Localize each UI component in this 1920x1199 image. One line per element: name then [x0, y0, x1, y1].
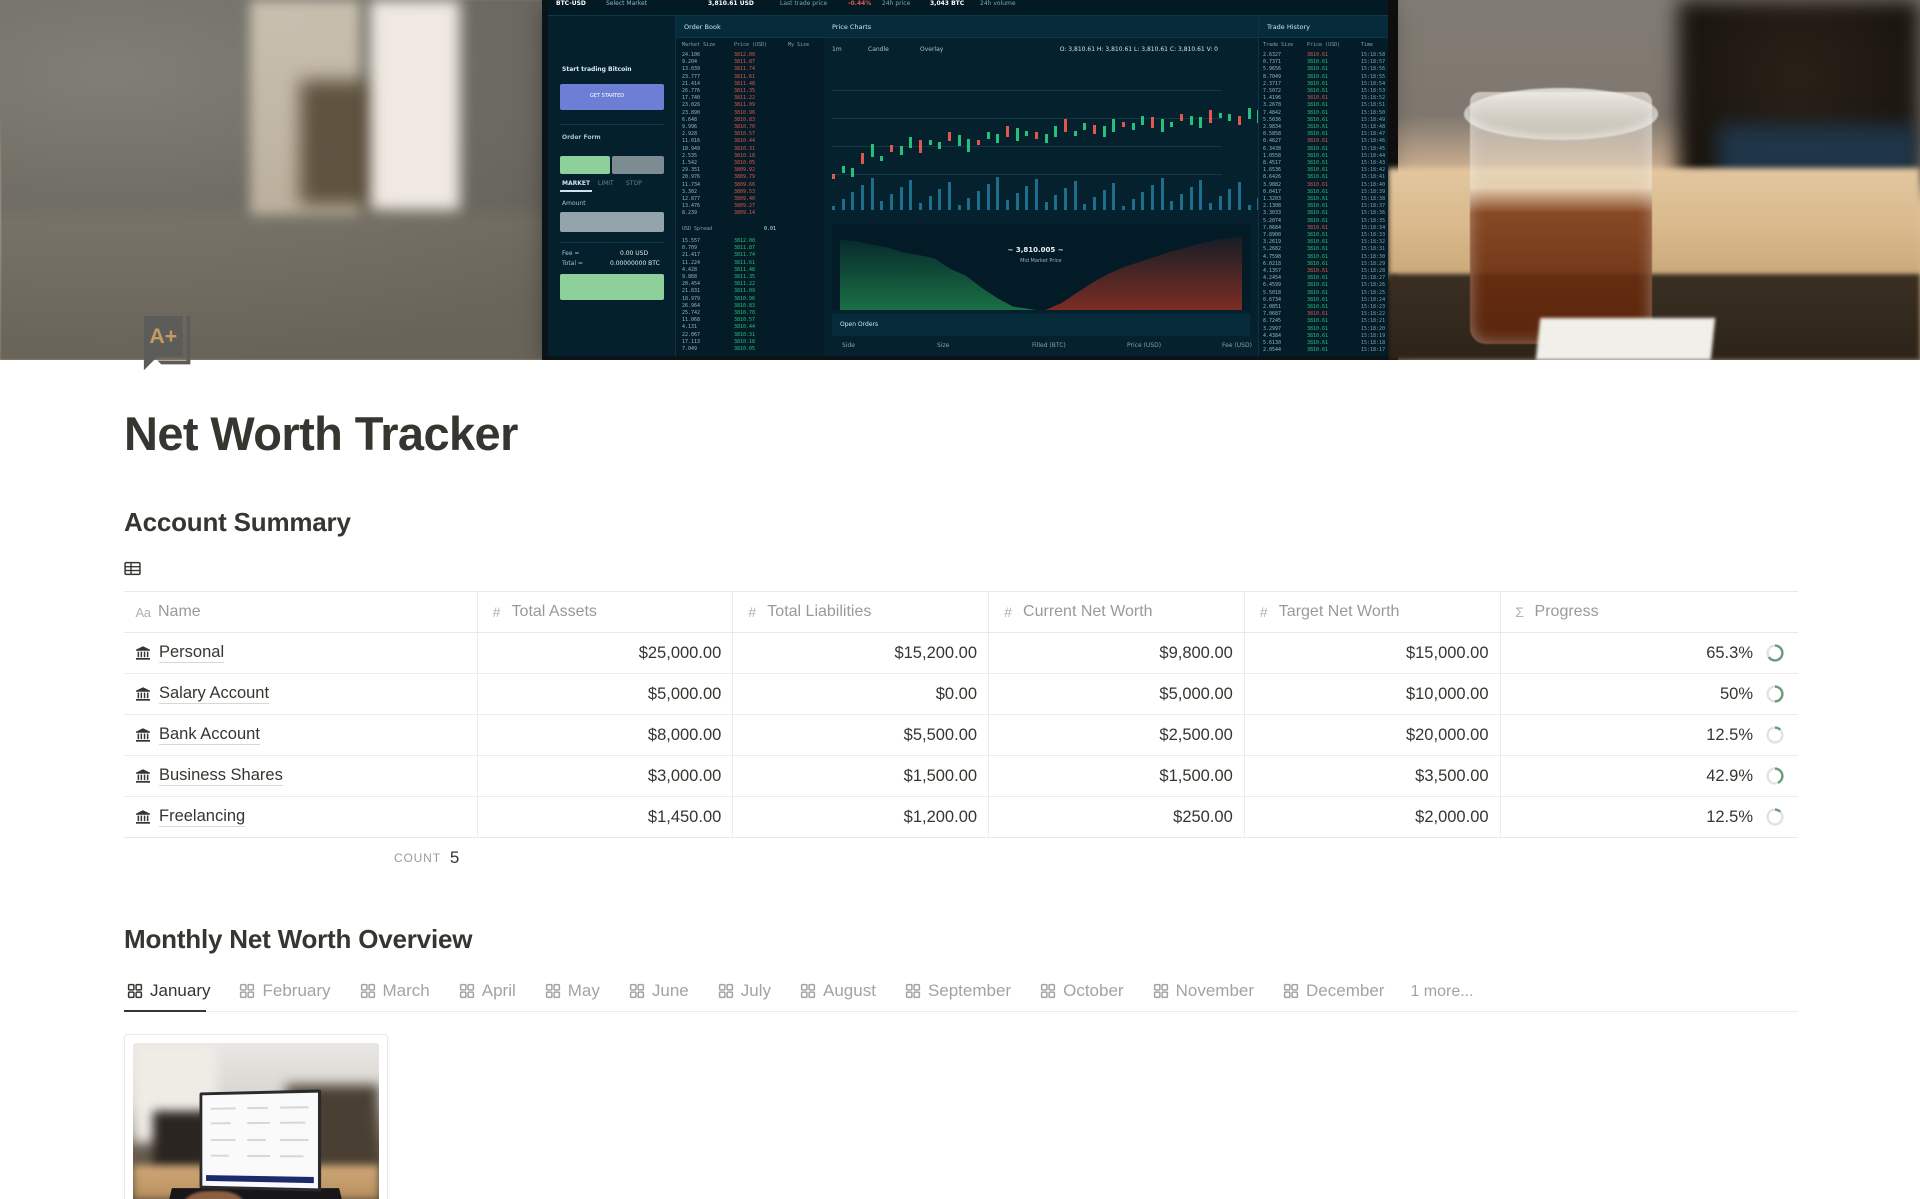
cell-name[interactable]: Freelancing — [124, 797, 477, 838]
monitor-last-price: 3,810.61 USD — [708, 0, 754, 12]
volume-bar — [987, 184, 990, 210]
trade-history-time: 15:18:57 — [1361, 59, 1385, 66]
trade-history-time: 15:18:49 — [1361, 117, 1385, 124]
trade-history-size: 4.7598 — [1263, 254, 1281, 261]
trade-history-size: 6.0218 — [1263, 261, 1281, 268]
page-cover-banner[interactable]: BTC-USD Select Market 3,810.61 USD Last … — [0, 0, 1920, 360]
volume-bar — [919, 203, 922, 210]
depth-bids-area — [840, 224, 1036, 310]
volume-bar — [948, 182, 951, 210]
cover-napkin — [1536, 318, 1715, 360]
order-book-price: 3811.61 — [734, 260, 755, 267]
trade-history-time: 15:18:55 — [1361, 74, 1385, 81]
tab-label: June — [652, 981, 689, 1001]
order-book-price: 3811.74 — [734, 66, 755, 73]
trade-history-price: 3810.61 — [1307, 261, 1328, 268]
tab-label: August — [823, 981, 876, 1001]
trade-history-size: 2.0851 — [1263, 304, 1281, 311]
trade-history-price: 3810.61 — [1307, 275, 1328, 282]
order-book-price: 3809.66 — [734, 182, 755, 189]
order-book-price: 3811.74 — [734, 252, 755, 259]
trade-history-price: 3810.61 — [1307, 160, 1328, 167]
monitor-order-form-title: Order Form — [562, 134, 601, 146]
monitor-open-orders-header: Open Orders — [832, 314, 1250, 336]
trade-history-time: 15:18:29 — [1361, 261, 1385, 268]
order-book-price: 3810.18 — [734, 153, 755, 160]
tab-label: February — [262, 981, 330, 1001]
trade-history-size: 2.9834 — [1263, 124, 1281, 131]
volume-bar — [1112, 183, 1115, 210]
cell-total-liabilities[interactable]: $1,200.00 — [733, 797, 989, 838]
cell-progress[interactable]: 65.3% — [1500, 633, 1798, 674]
cell-current-net-worth[interactable]: $9,800.00 — [989, 633, 1245, 674]
monitor-th-col-price: Price (USD) — [1307, 42, 1340, 49]
column-header-current-net-worth[interactable]: # Current Net Worth — [989, 592, 1245, 633]
trade-history-time: 15:18:20 — [1361, 326, 1385, 333]
chart-gridline — [832, 118, 1222, 119]
trade-history-size: 3.3033 — [1263, 210, 1281, 217]
tab-april[interactable]: April — [456, 976, 527, 1011]
table-row[interactable]: Salary Account$5,000.00$0.00$5,000.00$10… — [124, 674, 1798, 715]
tab-january[interactable]: January — [124, 976, 221, 1011]
row-name-link[interactable]: Bank Account — [159, 725, 260, 745]
trade-history-time: 15:18:40 — [1361, 182, 1385, 189]
volume-bar — [1122, 206, 1125, 210]
trade-history-size: 0.6734 — [1263, 297, 1281, 304]
order-book-price: 3812.00 — [734, 52, 755, 59]
price-candle — [1016, 128, 1019, 141]
order-book-price: 3811.09 — [734, 288, 755, 295]
tab-may[interactable]: May — [542, 976, 611, 1011]
table-row[interactable]: Freelancing$1,450.00$1,200.00$250.00$2,0… — [124, 797, 1798, 838]
trade-history-size: 5.2682 — [1263, 246, 1281, 253]
volume-bar — [851, 192, 854, 210]
trade-history-time: 15:18:24 — [1361, 297, 1385, 304]
table-row[interactable]: Business Shares$3,000.00$1,500.00$1,500.… — [124, 756, 1798, 797]
monitor-ob-col-mysize: My Size — [788, 42, 809, 49]
trade-history-size: 0.5858 — [1263, 131, 1281, 138]
order-book-size: 11.224 — [682, 260, 700, 267]
price-candle — [1238, 116, 1241, 125]
volume-bar — [996, 177, 999, 210]
trade-history-time: 15:18:56 — [1361, 66, 1385, 73]
trade-history-price: 3810.61 — [1307, 347, 1328, 354]
price-candle — [987, 132, 990, 139]
gallery-view-icon — [718, 983, 734, 999]
tab-label: November — [1176, 981, 1254, 1001]
column-header-target-net-worth[interactable]: # Target Net Worth — [1244, 592, 1500, 633]
cell-current-net-worth[interactable]: $5,000.00 — [989, 674, 1245, 715]
volume-bar — [1035, 179, 1038, 210]
order-book-price: 3810.05 — [734, 346, 755, 353]
volume-bar — [1025, 186, 1028, 210]
database-view-icon-row — [124, 560, 1920, 582]
price-candle — [1093, 125, 1096, 134]
gallery-view-icon — [1040, 983, 1056, 999]
trade-history-price: 3810.61 — [1307, 297, 1328, 304]
column-header-name[interactable]: Aa Name — [124, 592, 477, 633]
trade-history-size: 5.6130 — [1263, 340, 1281, 347]
depth-asks-area — [1046, 224, 1242, 310]
tab-august[interactable]: August — [797, 976, 887, 1011]
trade-history-time: 15:18:52 — [1361, 95, 1385, 102]
table-row[interactable]: Bank Account$8,000.00$5,500.00$2,500.00$… — [124, 715, 1798, 756]
volume-bar — [929, 196, 932, 210]
volume-bar — [1151, 185, 1154, 210]
chart-gridline — [832, 146, 1222, 147]
price-candle — [1054, 126, 1057, 137]
price-candle — [1045, 134, 1048, 143]
monitor-get-started-label: GET STARTED — [590, 93, 624, 105]
row-name-link[interactable]: Personal — [159, 643, 224, 663]
monitor-amount-label: Amount — [562, 200, 586, 212]
trade-history-time: 15:18:33 — [1361, 232, 1385, 239]
trade-history-size: 7.8900 — [1263, 232, 1281, 239]
row-name-link[interactable]: Business Shares — [159, 766, 283, 786]
trade-history-size: 7.5072 — [1263, 88, 1281, 95]
trade-history-size: 5.2074 — [1263, 218, 1281, 225]
cell-progress[interactable]: 50% — [1500, 674, 1798, 715]
monitor-mid-market-price: ~ 3,810.005 ~ — [1008, 246, 1064, 258]
trade-history-time: 15:18:25 — [1361, 290, 1385, 297]
trade-history-price: 3810.61 — [1307, 153, 1328, 160]
trade-history-price: 3810.61 — [1307, 66, 1328, 73]
order-book-size: 11.016 — [682, 138, 700, 145]
order-book-size: 8.239 — [682, 210, 697, 217]
progress-label: 65.3% — [1706, 644, 1753, 663]
volume-bar — [1248, 205, 1251, 210]
price-candle — [1112, 119, 1115, 132]
table-view-icon[interactable] — [124, 560, 141, 577]
volume-bar — [890, 194, 893, 210]
cell-progress[interactable]: 42.9% — [1500, 756, 1798, 797]
order-book-price: 3809.27 — [734, 203, 755, 210]
progress-label: 12.5% — [1706, 808, 1753, 827]
order-book-price: 3810.44 — [734, 324, 755, 331]
column-header-total-assets[interactable]: # Total Assets — [477, 592, 733, 633]
cell-total-assets[interactable]: $5,000.00 — [477, 674, 733, 715]
trade-history-time: 15:18:43 — [1361, 160, 1385, 167]
order-book-size: 11.734 — [682, 182, 700, 189]
gallery-view-icon — [629, 983, 645, 999]
volume-bar — [1238, 182, 1241, 210]
progress-label: 42.9% — [1706, 767, 1753, 786]
cell-total-assets[interactable]: $1,450.00 — [477, 797, 733, 838]
trade-history-time: 15:18:41 — [1361, 174, 1385, 181]
trade-history-time: 15:18:46 — [1361, 138, 1385, 145]
trade-history-price: 3810.61 — [1307, 59, 1328, 66]
row-name-link[interactable]: Salary Account — [159, 684, 269, 704]
trade-history-price: 3810.61 — [1307, 95, 1328, 102]
order-book-price: 3809.79 — [734, 174, 755, 181]
monitor-th-col-time: Time — [1361, 42, 1373, 49]
volume-bar — [1016, 193, 1019, 210]
cell-total-liabilities[interactable]: $1,500.00 — [733, 756, 989, 797]
price-candle — [900, 146, 903, 155]
trade-history-price: 3810.61 — [1307, 167, 1328, 174]
trade-history-time: 15:18:44 — [1361, 153, 1385, 160]
trade-history-price: 3810.61 — [1307, 326, 1328, 333]
volume-bar — [900, 187, 903, 210]
price-candle — [958, 135, 961, 146]
volume-bar — [1006, 200, 1009, 210]
order-book-price: 3809.14 — [734, 210, 755, 217]
trade-history-size: 0.0417 — [1263, 189, 1281, 196]
order-book-price: 3810.70 — [734, 310, 755, 317]
cover-trading-monitor: BTC-USD Select Market 3,810.61 USD Last … — [548, 0, 1388, 356]
trade-history-time: 15:18:21 — [1361, 318, 1385, 325]
cell-current-net-worth[interactable]: $1,500.00 — [989, 756, 1245, 797]
trade-history-time: 15:18:17 — [1361, 347, 1385, 354]
table-header-row: Aa Name # Total Assets # Total Liabiliti… — [124, 592, 1798, 633]
trade-history-price: 3810.61 — [1307, 225, 1328, 232]
trade-history-size: 5.5018 — [1263, 290, 1281, 297]
trade-history-price: 3810.61 — [1307, 268, 1328, 275]
cell-total-liabilities[interactable]: $5,500.00 — [733, 715, 989, 756]
trade-history-time: 15:18:50 — [1361, 110, 1385, 117]
monitor-ob-col-size: Market Size — [682, 42, 715, 49]
column-header-progress[interactable]: Σ Progress — [1500, 592, 1798, 633]
gallery-card[interactable] — [124, 1034, 388, 1199]
trade-history-size: 0.4627 — [1263, 138, 1281, 145]
card-image-laptop-screen — [199, 1089, 321, 1191]
order-book-size: 17.740 — [682, 95, 700, 102]
chart-gridline — [832, 90, 1222, 91]
trade-history-price: 3810.61 — [1307, 232, 1328, 239]
trade-history-price: 3810.61 — [1307, 138, 1328, 145]
cell-total-assets[interactable]: $3,000.00 — [477, 756, 733, 797]
trade-history-price: 3810.61 — [1307, 333, 1328, 340]
volume-bar — [1228, 189, 1231, 210]
order-book-price: 3811.87 — [734, 59, 755, 66]
order-book-size: 17.113 — [682, 339, 700, 346]
order-book-price: 3810.05 — [734, 160, 755, 167]
order-book-size: 26.776 — [682, 88, 700, 95]
order-book-price: 3810.44 — [734, 138, 755, 145]
number-type-icon: # — [744, 604, 760, 620]
price-candle — [1228, 114, 1231, 121]
tab-february[interactable]: February — [236, 976, 341, 1011]
account-summary-table[interactable]: Aa Name # Total Assets # Total Liabiliti… — [124, 591, 1798, 838]
report-card-grade-text: A+ — [149, 324, 177, 348]
price-candle — [1006, 126, 1009, 137]
tab-march[interactable]: March — [357, 976, 441, 1011]
progress-ring-icon — [1765, 725, 1785, 745]
order-book-price: 3811.09 — [734, 102, 755, 109]
page-title[interactable]: Net Worth Tracker — [124, 406, 1920, 461]
cell-progress[interactable]: 12.5% — [1500, 715, 1798, 756]
tab-june[interactable]: June — [626, 976, 700, 1011]
trade-history-time: 15:18:34 — [1361, 225, 1385, 232]
trade-history-time: 15:18:42 — [1361, 167, 1385, 174]
trade-history-size: 7.4842 — [1263, 110, 1281, 117]
trade-history-size: 2.6327 — [1263, 52, 1281, 59]
trade-history-price: 3810.61 — [1307, 52, 1328, 59]
order-book-price: 3811.48 — [734, 267, 755, 274]
trade-history-time: 15:18:27 — [1361, 275, 1385, 282]
order-book-price: 3810.18 — [734, 339, 755, 346]
cell-target-net-worth[interactable]: $15,000.00 — [1244, 633, 1500, 674]
monitor-time-axis — [832, 212, 1222, 222]
cell-target-net-worth[interactable]: $10,000.00 — [1244, 674, 1500, 715]
trade-history-size: 1.0558 — [1263, 153, 1281, 160]
report-card-a-plus-icon[interactable]: A+ — [140, 314, 202, 376]
tabs-more-button[interactable]: 1 more... — [1410, 978, 1473, 1011]
trade-history-time: 15:18:51 — [1361, 102, 1385, 109]
order-book-price: 3811.22 — [734, 95, 755, 102]
trade-history-price: 3810.61 — [1307, 196, 1328, 203]
trade-history-time: 15:18:37 — [1361, 203, 1385, 210]
trade-history-time: 15:18:39 — [1361, 189, 1385, 196]
volume-bar — [1219, 196, 1222, 210]
volume-bar — [871, 178, 874, 210]
column-header-total-liabilities[interactable]: # Total Liabilities — [733, 592, 989, 633]
cell-target-net-worth[interactable]: $3,500.00 — [1244, 756, 1500, 797]
row-name-link[interactable]: Freelancing — [159, 807, 245, 827]
trade-history-price: 3810.61 — [1307, 290, 1328, 297]
table-row[interactable]: Personal$25,000.00$15,200.00$9,800.00$15… — [124, 633, 1798, 674]
volume-bar — [1054, 195, 1057, 210]
monthly-overview-heading[interactable]: Monthly Net Worth Overview — [124, 924, 1920, 955]
cell-total-assets[interactable]: $8,000.00 — [477, 715, 733, 756]
gallery-view-icon — [239, 983, 255, 999]
price-candle — [948, 132, 951, 141]
trade-history-price: 3810.61 — [1307, 218, 1328, 225]
volume-bar — [880, 201, 883, 210]
count-value: 5 — [450, 848, 459, 868]
tab-label: May — [568, 981, 600, 1001]
price-candle — [1025, 131, 1028, 136]
monitor-price-chart-panel: Price Charts 1m Candle Overlay O: 3,810.… — [824, 16, 1258, 356]
cell-total-assets[interactable]: $25,000.00 — [477, 633, 733, 674]
count-label: COUNT — [394, 851, 441, 865]
trade-history-size: 6.3438 — [1263, 146, 1281, 153]
trade-history-size: 4.4384 — [1263, 333, 1281, 340]
cover-coffee-jar-rim — [1464, 88, 1658, 140]
order-book-size: 3.302 — [682, 189, 697, 196]
cell-total-liabilities[interactable]: $0.00 — [733, 674, 989, 715]
trade-history-price: 3810.61 — [1307, 110, 1328, 117]
monitor-trade-history-title: Trade History — [1259, 16, 1388, 38]
cell-progress[interactable]: 12.5% — [1500, 797, 1798, 838]
trade-history-size: 3.2678 — [1263, 102, 1281, 109]
volume-bar — [832, 206, 835, 210]
trade-history-time: 15:18:30 — [1361, 254, 1385, 261]
trade-history-size: 1.6536 — [1263, 167, 1281, 174]
tab-september[interactable]: September — [902, 976, 1022, 1011]
cell-name[interactable]: Bank Account — [124, 715, 477, 756]
monitor-change-label: 24h price — [882, 0, 910, 12]
trade-history-time: 15:18:32 — [1361, 239, 1385, 246]
open-orders-column: Filled (BTC) — [1032, 342, 1066, 354]
trade-history-size: 3.2619 — [1263, 239, 1281, 246]
column-header-label: Total Assets — [512, 603, 597, 621]
trade-history-time: 15:18:22 — [1361, 311, 1385, 318]
order-book-size: 18.949 — [682, 146, 700, 153]
order-book-price: 3811.35 — [734, 88, 755, 95]
order-book-size: 13.039 — [682, 66, 700, 73]
order-book-price: 3811.87 — [734, 245, 755, 252]
bank-icon — [135, 809, 151, 825]
monitor-market-selector: Select Market — [606, 0, 647, 12]
table-footer-count[interactable]: COUNT 5 — [124, 838, 1798, 878]
order-book-price: 3811.35 — [734, 274, 755, 281]
cell-current-net-worth[interactable]: $250.00 — [989, 797, 1245, 838]
trade-history-price: 3810.61 — [1307, 131, 1328, 138]
monitor-usd-spread-label: USD Spread — [682, 226, 712, 233]
trade-history-time: 15:18:45 — [1361, 146, 1385, 153]
cell-name[interactable]: Salary Account — [124, 674, 477, 715]
trade-history-time: 15:18:53 — [1361, 88, 1385, 95]
tab-label: September — [928, 981, 1011, 1001]
monitor-chart-ctl-candle: Candle — [868, 46, 889, 58]
tab-december[interactable]: December — [1280, 976, 1395, 1011]
formula-type-icon: Σ — [1512, 604, 1528, 620]
cell-current-net-worth[interactable]: $2,500.00 — [989, 715, 1245, 756]
order-book-size: 6.648 — [682, 117, 697, 124]
price-candle — [1219, 113, 1222, 118]
gallery-view-icon — [905, 983, 921, 999]
order-book-size: 1.542 — [682, 160, 697, 167]
order-book-size: 4.428 — [682, 267, 697, 274]
order-book-size: 22.067 — [682, 332, 700, 339]
price-candle — [1103, 126, 1106, 137]
monitor-th-col-size: Trade Size — [1263, 42, 1293, 49]
tab-october[interactable]: October — [1037, 976, 1134, 1011]
gallery-view-icon — [1283, 983, 1299, 999]
monitor-volume-bars — [832, 170, 1222, 210]
text-type-icon: Aa — [135, 604, 151, 620]
order-book-price: 3810.96 — [734, 296, 755, 303]
gallery-card-image — [133, 1043, 379, 1199]
column-header-label: Target Net Worth — [1279, 603, 1400, 621]
cell-target-net-worth[interactable]: $20,000.00 — [1244, 715, 1500, 756]
trade-history-price: 3810.61 — [1307, 203, 1328, 210]
price-candle — [1248, 108, 1251, 119]
cell-name[interactable]: Business Shares — [124, 756, 477, 797]
price-candle — [1151, 117, 1154, 128]
account-summary-heading[interactable]: Account Summary — [124, 507, 1920, 538]
card-image-screen-accent — [206, 1174, 315, 1183]
monitor-sell-button — [612, 156, 664, 174]
page-content: Net Worth Tracker Account Summary Aa Nam… — [0, 406, 1920, 1199]
open-orders-column: Fee (USD) — [1222, 342, 1252, 354]
order-book-size: 20.976 — [682, 174, 700, 181]
trade-history-price: 3810.61 — [1307, 102, 1328, 109]
monitor-order-book-title: Order Book — [676, 16, 824, 38]
tab-july[interactable]: July — [715, 976, 782, 1011]
gallery-view-icon — [545, 983, 561, 999]
cell-total-liabilities[interactable]: $15,200.00 — [733, 633, 989, 674]
monitor-order-book-panel: Order Book Market Size Price (USD) My Si… — [676, 16, 824, 356]
tab-november[interactable]: November — [1150, 976, 1265, 1011]
cell-name[interactable]: Personal — [124, 633, 477, 674]
gallery-view-icon — [360, 983, 376, 999]
order-book-size: 2.535 — [682, 153, 697, 160]
trade-history-price: 3810.61 — [1307, 74, 1328, 81]
price-candle — [1074, 131, 1077, 136]
price-candle — [977, 140, 980, 145]
trade-history-price: 3810.61 — [1307, 81, 1328, 88]
trade-history-size: 0.7371 — [1263, 59, 1281, 66]
monitor-price-charts-title: Price Charts — [824, 16, 1258, 38]
column-header-label: Total Liabilities — [767, 603, 871, 621]
trade-history-size: 7.0684 — [1263, 225, 1281, 232]
cell-target-net-worth[interactable]: $2,000.00 — [1244, 797, 1500, 838]
trade-history-price: 3810.61 — [1307, 318, 1328, 325]
price-candle — [1170, 122, 1173, 127]
order-book-size: 23.026 — [682, 102, 700, 109]
